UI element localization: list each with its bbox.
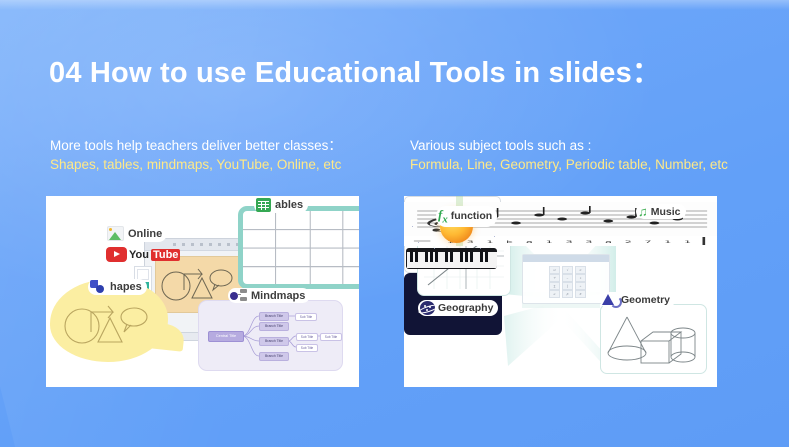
tables-grid [243, 211, 359, 284]
function-label-text: function [451, 210, 492, 222]
mindmap-branch-node: Branch Title [259, 312, 289, 321]
youtube-label: You Tube [104, 246, 185, 263]
online-label-text: Online [128, 228, 162, 240]
youtube-you-text: You [129, 249, 149, 261]
page-title: 04 How to use Educational Tools in slide… [49, 49, 661, 91]
right-text-block: Various subject tools such as : Formula,… [410, 136, 780, 174]
music-note-icon: ♫ [638, 205, 648, 218]
right-heading: Various subject tools such as : [410, 136, 780, 155]
left-illustration-panel: ✦＋→▣ [46, 196, 359, 387]
mindmap-branch-node: Branch Title [259, 322, 289, 331]
tables-label: ables [254, 197, 308, 213]
geometry-card [600, 304, 707, 374]
mindmap-central-node: Central Title [208, 331, 244, 342]
fx-icon: fx [438, 207, 448, 226]
geometry-solids [601, 305, 706, 373]
slide-doodle [158, 256, 238, 306]
shapes-label-text: hapes [110, 281, 142, 293]
mindmap-branch-node: Branch Title [259, 337, 289, 346]
tables-card [238, 206, 359, 289]
center-slide-mockup: x²√π ＋−× ∑∫÷ αβθ [522, 254, 610, 304]
geometry-icon [602, 293, 618, 307]
mindmap-sub-node: Sub Title [296, 333, 318, 341]
mindmap-sub-node: Sub Title [296, 344, 318, 352]
shapes-icon [90, 280, 106, 294]
youtube-tube-text: Tube [151, 249, 180, 261]
left-text-block: More tools help teachers deliver better … [50, 136, 390, 174]
slide-root: 04 How to use Educational Tools in slide… [0, 0, 789, 447]
right-illustration-panel: x²√π ＋−× ∑∫÷ αβθ [404, 196, 717, 387]
planet-icon [420, 301, 435, 315]
online-label: Online [105, 225, 167, 242]
shapes-doodle [60, 292, 152, 350]
mindmaps-label-text: Mindmaps [251, 290, 305, 302]
music-label-text: Music [651, 206, 681, 218]
svg-text:1: 1 [486, 240, 493, 244]
geography-label-text: Geography [438, 302, 493, 314]
right-subheading: Formula, Line, Geometry, Periodic table,… [410, 155, 780, 174]
function-label: fx function [436, 206, 497, 227]
tables-label-text: ables [275, 199, 303, 211]
piano-keyboard [406, 248, 497, 269]
mindmap-icon [230, 289, 247, 302]
geometry-label: Geometry [600, 292, 675, 308]
shapes-label: hapes [88, 279, 147, 295]
left-subheading: Shapes, tables, mindmaps, YouTube, Onlin… [50, 155, 390, 174]
mindmap-sub-node: Sub Title [295, 313, 317, 321]
image-icon [107, 226, 124, 241]
mindmaps-label: Mindmaps [228, 288, 310, 303]
mindmap-card: Central Title Branch Title Branch Title … [198, 300, 343, 371]
table-icon [256, 198, 271, 212]
youtube-icon: You Tube [106, 247, 180, 262]
left-heading: More tools help teachers deliver better … [50, 136, 390, 155]
music-label: ♫ Music [636, 204, 686, 219]
mindmap-branch-node: Branch Title [259, 352, 289, 361]
geometry-label-text: Geometry [621, 294, 670, 306]
top-glow [0, 0, 789, 10]
mindmap-sub-node: Sub Title [320, 333, 342, 341]
geography-label: Geography [418, 300, 498, 316]
formula-keypad: x²√π ＋−× ∑∫÷ αβθ [549, 266, 585, 299]
svg-text:3: 3 [467, 240, 474, 244]
